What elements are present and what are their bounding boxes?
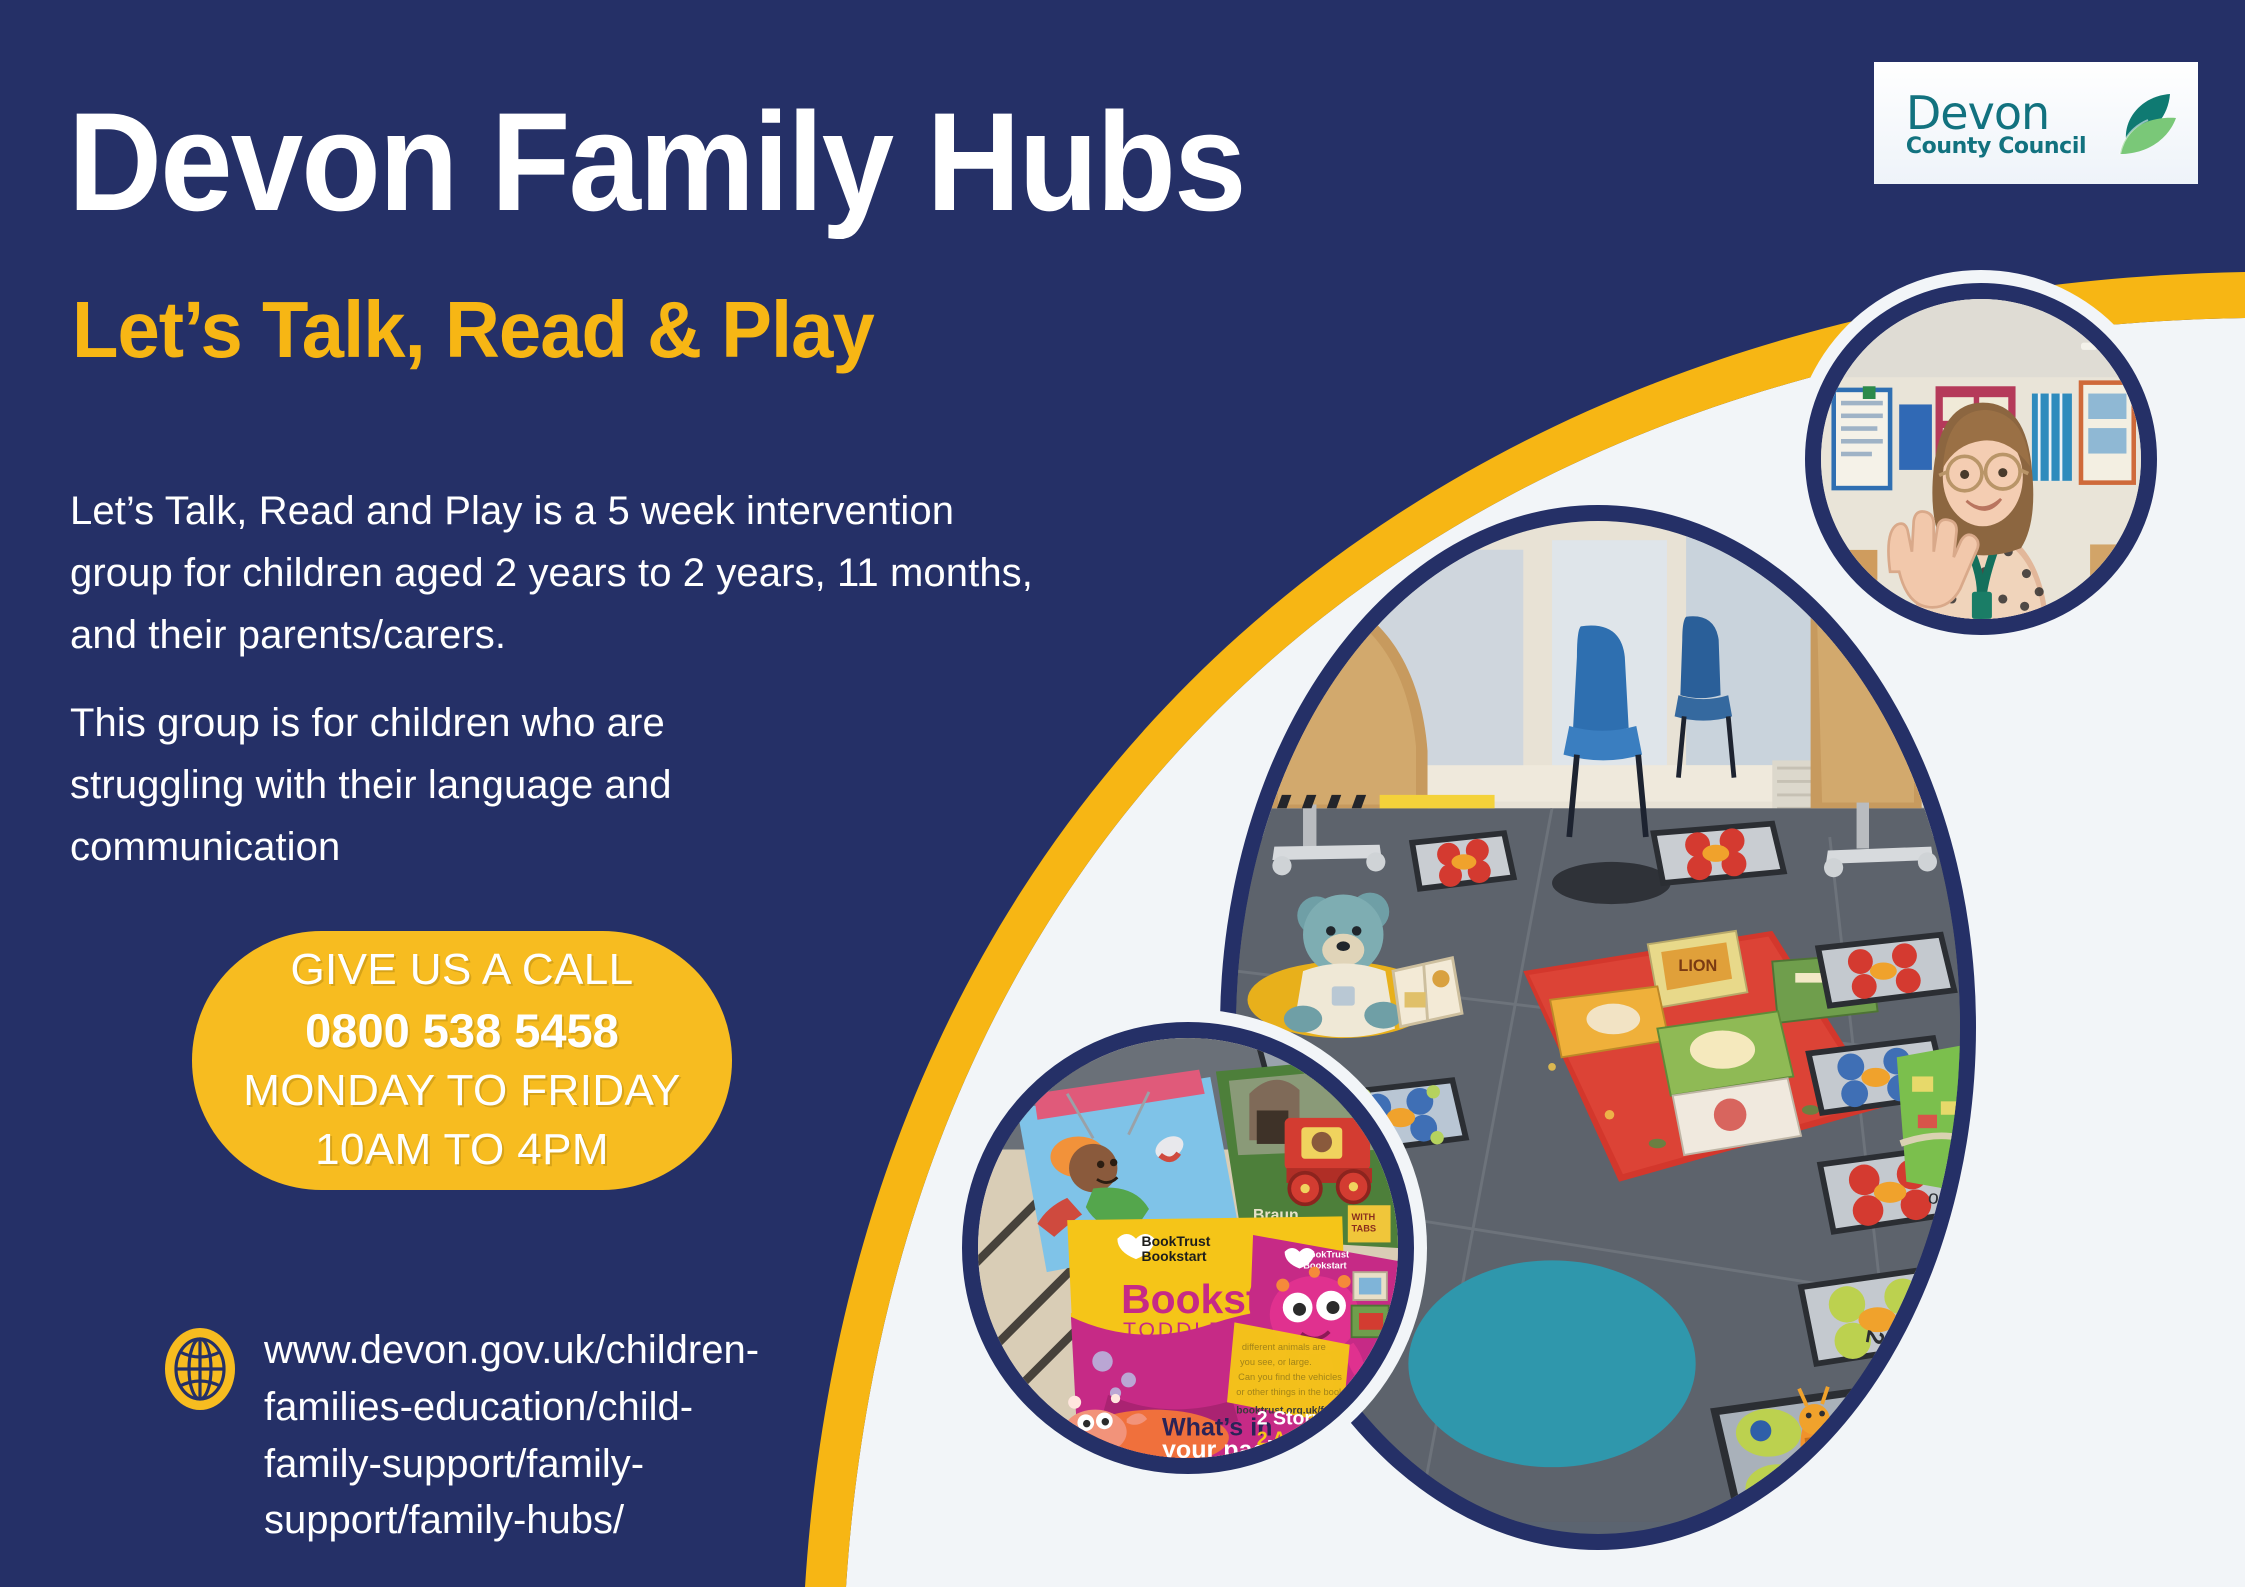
call-us-panel[interactable]: GIVE US A CALL 0800 538 5458 MONDAY TO F…	[192, 931, 732, 1190]
practitioner-illustration	[1821, 299, 2141, 619]
page-title: Devon Family Hubs	[68, 92, 1245, 232]
phone-number[interactable]: 0800 538 5458	[305, 1000, 619, 1063]
logo-county-council-text: County Council	[1906, 136, 2086, 158]
svg-text:1 Finger puppet: 1 Finger puppet	[1257, 1448, 1398, 1458]
svg-text:BookTrust: BookTrust	[1142, 1233, 1211, 1249]
intro-paragraph: Let’s Talk, Read and Play is a 5 week in…	[70, 480, 1050, 666]
svg-text:WITH: WITH	[1352, 1212, 1376, 1222]
page-subtitle: Let’s Talk, Read & Play	[72, 290, 874, 370]
opening-hours: 10AM TO 4PM	[315, 1121, 609, 1180]
poster-canvas: Devon Family Hubs Let’s Talk, Read & Pla…	[0, 0, 2245, 1587]
svg-text:2 Activity cards: 2 Activity cards	[1257, 1428, 1398, 1450]
practitioner-portrait-photo	[1805, 283, 2157, 635]
svg-text:BookTrust: BookTrust	[1303, 1249, 1349, 1259]
call-heading: GIVE US A CALL	[290, 941, 633, 1000]
pack-contents-list: 2 Story books 2 Activity cards 1 Finger …	[1257, 1408, 1398, 1458]
number-mat-seven-right	[1654, 824, 1784, 883]
opening-days: MONDAY TO FRIDAY	[243, 1062, 681, 1121]
website-block[interactable]: www.devon.gov.uk/children-families-educa…	[162, 1322, 804, 1549]
svg-text:one: one	[1927, 1187, 1960, 1212]
svg-text:Bookstart: Bookstart	[1142, 1248, 1207, 1264]
number-mat-orange	[1818, 935, 1954, 1006]
svg-text:LION: LION	[1678, 957, 1717, 975]
number-mat-seven-left	[1412, 833, 1514, 889]
logo-devon-text: Devon	[1906, 90, 2086, 136]
bookstart-pack-photo: Braun WITH TABS BookTrust Bookstart Book…	[962, 1022, 1414, 1474]
leaf-icon	[2090, 88, 2176, 158]
svg-text:TABS: TABS	[1352, 1223, 1377, 1233]
butterfly-mat-large	[1715, 1385, 1933, 1519]
devon-county-council-logo: Devon County Council	[1874, 62, 2198, 184]
svg-text:Can you find the vehicles: Can you find the vehicles	[1238, 1372, 1342, 1382]
eligibility-paragraph: This group is for children who are strug…	[70, 692, 830, 878]
svg-text:different animals are: different animals are	[1242, 1342, 1326, 1352]
globe-icon	[162, 1326, 238, 1412]
open-book	[1393, 958, 1462, 1027]
website-url[interactable]: www.devon.gov.uk/children-families-educa…	[264, 1322, 804, 1549]
svg-text:or other things in the book?: or other things in the book?	[1236, 1387, 1348, 1397]
svg-text:Bookstart: Bookstart	[1303, 1260, 1346, 1270]
bookstart-pack-illustration: Braun WITH TABS BookTrust Bookstart Book…	[978, 1038, 1398, 1458]
svg-text:TODDLER: TODDLER	[1123, 1318, 1244, 1342]
svg-text:you see, or large.: you see, or large.	[1240, 1357, 1312, 1367]
svg-text:2 Story books: 2 Story books	[1257, 1408, 1386, 1430]
